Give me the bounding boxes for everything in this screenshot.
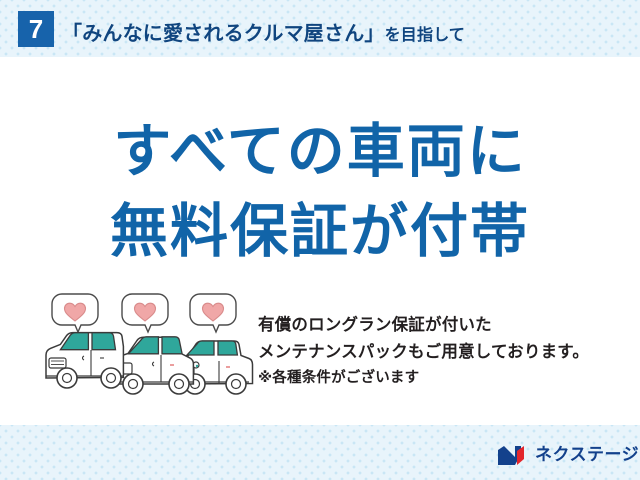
heart-bubble-2 bbox=[122, 294, 168, 332]
header-title-quoted: 「みんなに愛されるクルマ屋さん」 bbox=[62, 23, 385, 45]
heart-bubble-3 bbox=[190, 294, 236, 332]
info-text-block: 有償のロングラン保証が付いた メンテナンスパックもご用意しております。 ※各種条… bbox=[258, 311, 628, 392]
info-line-2: メンテナンスパックもご用意しております。 bbox=[258, 338, 628, 365]
headline-line-1: すべての車両に bbox=[0, 104, 640, 188]
illustration-svg bbox=[40, 292, 270, 400]
heart-bubble-1 bbox=[52, 294, 98, 332]
cars-with-hearts-illustration bbox=[40, 292, 270, 400]
header-title-suffix: を目指して bbox=[385, 27, 466, 44]
nexstage-n-mark-icon bbox=[497, 445, 527, 466]
headline-line-2: 無料保証が付帯 bbox=[0, 184, 640, 268]
brand-logo-text: ネクステージ bbox=[535, 447, 639, 464]
header-title: 「みんなに愛されるクルマ屋さん」を目指して bbox=[62, 17, 465, 46]
promo-banner: 7 「みんなに愛されるクルマ屋さん」を目指して すべての車両に 無料保証が付帯 bbox=[0, 0, 640, 480]
info-line-1: 有償のロングラン保証が付いた bbox=[258, 311, 628, 338]
car-minivan bbox=[46, 333, 124, 388]
brand-logo: ネクステージ bbox=[497, 443, 639, 467]
car-sedan-wagon bbox=[112, 337, 193, 394]
section-number-badge: 7 bbox=[18, 11, 54, 47]
info-line-3-note: ※各種条件がございます bbox=[258, 365, 628, 392]
